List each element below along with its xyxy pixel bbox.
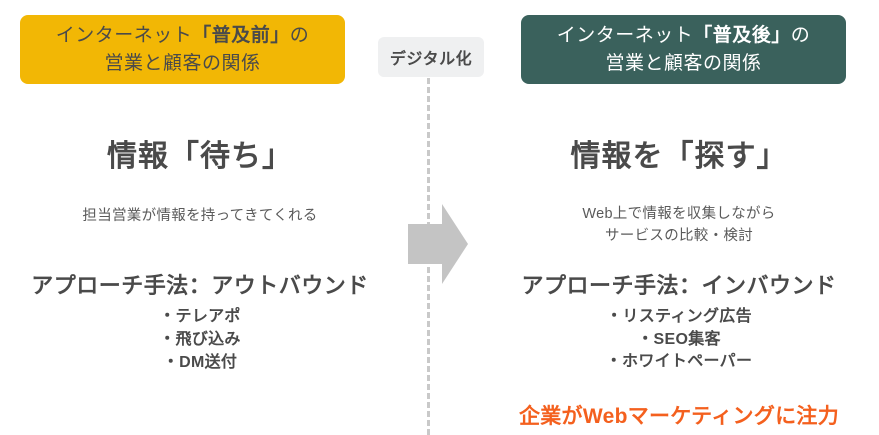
after-header-line1-suffix: の bbox=[791, 25, 811, 46]
before-header-line1-suffix: の bbox=[290, 25, 310, 46]
before-subtitle: 担当営業が情報を持ってきてくれる bbox=[0, 205, 400, 227]
digitalization-chip: デジタル化 bbox=[378, 37, 484, 77]
before-bullet-list: ・テレアポ ・飛び込み ・DM送付 bbox=[0, 306, 400, 374]
before-header-line2: 営業と顧客の関係 bbox=[104, 50, 260, 78]
list-item: ・飛び込み bbox=[0, 329, 400, 352]
right-arrow-icon bbox=[408, 204, 468, 284]
before-header-line1-prefix: インターネット bbox=[56, 25, 193, 46]
list-item: ・SEO集客 bbox=[479, 329, 879, 352]
after-header-box: インターネット「普及後」の 営業と顧客の関係 bbox=[521, 15, 846, 84]
list-item: ・テレアポ bbox=[0, 306, 400, 329]
list-item: ・DM送付 bbox=[0, 352, 400, 375]
before-approach-title: アプローチ手法：アウトバウンド bbox=[0, 268, 400, 300]
after-subtitle-line1: Web上で情報を収集しながら bbox=[582, 206, 775, 222]
list-item: ・ホワイトペーパー bbox=[479, 351, 879, 374]
after-subtitle: Web上で情報を収集しながら サービスの比較・検討 bbox=[479, 203, 879, 248]
before-header-line1-emphasis: 「普及前」 bbox=[192, 25, 290, 46]
after-highlight-text: 企業がWebマーケティングに注力 bbox=[479, 400, 879, 430]
before-headline: 情報「待ち」 bbox=[0, 131, 400, 175]
list-item: ・リスティング広告 bbox=[479, 306, 879, 329]
after-header-line1-prefix: インターネット bbox=[557, 25, 694, 46]
after-subtitle-line2: サービスの比較・検討 bbox=[605, 228, 753, 244]
before-column: 情報「待ち」 担当営業が情報を持ってきてくれる アプローチ手法：アウトバウンド … bbox=[0, 110, 400, 375]
after-column: 情報を「探す」 Web上で情報を収集しながら サービスの比較・検討 アプローチ手… bbox=[479, 110, 879, 430]
after-headline: 情報を「探す」 bbox=[479, 131, 879, 175]
before-header-line1: インターネット「普及前」の bbox=[56, 22, 310, 50]
digitalization-chip-label: デジタル化 bbox=[390, 45, 472, 69]
after-header-line1: インターネット「普及後」の bbox=[557, 22, 811, 50]
before-header-box: インターネット「普及前」の 営業と顧客の関係 bbox=[20, 15, 345, 84]
after-approach-title: アプローチ手法：インバウンド bbox=[479, 268, 879, 300]
after-header-line1-emphasis: 「普及後」 bbox=[693, 25, 791, 46]
after-bullet-list: ・リスティング広告 ・SEO集客 ・ホワイトペーパー bbox=[479, 306, 879, 374]
after-header-line2: 営業と顧客の関係 bbox=[605, 50, 761, 78]
